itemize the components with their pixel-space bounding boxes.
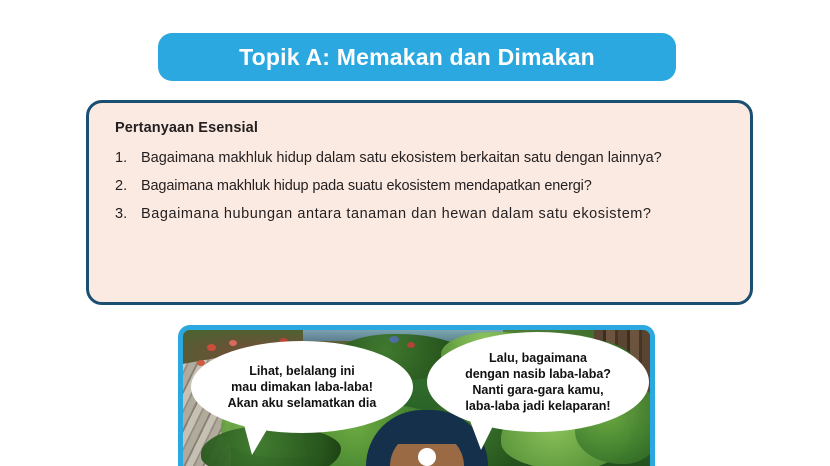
question-text: Bagaimana hubungan antara tanaman dan he… bbox=[141, 204, 724, 225]
question-number: 1. bbox=[115, 148, 141, 169]
speech-bubble-right: Lalu, bagaimana dengan nasib laba-laba? … bbox=[427, 332, 649, 432]
question-number: 2. bbox=[115, 176, 141, 197]
question-text: Bagaimana makhluk hidup dalam satu ekosi… bbox=[141, 148, 724, 169]
speech-bubble-left-text: Lihat, belalang ini mau dimakan laba-lab… bbox=[220, 363, 385, 411]
flower bbox=[407, 342, 415, 348]
comic-panel: Lihat, belalang ini mau dimakan laba-lab… bbox=[178, 325, 655, 466]
essential-questions-card: Pertanyaan Esensial 1. Bagaimana makhluk… bbox=[86, 100, 753, 305]
comic-scene-image: Lihat, belalang ini mau dimakan laba-lab… bbox=[183, 330, 650, 466]
question-text: Bagaimana makhluk hidup pada suatu ekosi… bbox=[141, 176, 724, 197]
topic-title-text: Topik A: Memakan dan Dimakan bbox=[239, 44, 595, 71]
speech-bubble-tail bbox=[469, 418, 497, 450]
question-item: 1. Bagaimana makhluk hidup dalam satu ek… bbox=[115, 148, 724, 169]
question-item: 2. Bagaimana makhluk hidup pada suatu ek… bbox=[115, 176, 724, 197]
speech-bubble-left: Lihat, belalang ini mau dimakan laba-lab… bbox=[191, 341, 413, 433]
speech-bubble-right-text: Lalu, bagaimana dengan nasib laba-laba? … bbox=[457, 350, 619, 414]
speech-bubble-tail bbox=[243, 421, 272, 455]
character-eye bbox=[418, 448, 436, 466]
topic-title-banner: Topik A: Memakan dan Dimakan bbox=[158, 33, 676, 81]
flower bbox=[389, 336, 399, 343]
essential-questions-heading: Pertanyaan Esensial bbox=[115, 120, 724, 136]
question-number: 3. bbox=[115, 204, 141, 225]
question-item: 3. Bagaimana hubungan antara tanaman dan… bbox=[115, 204, 724, 225]
flower bbox=[229, 340, 237, 346]
flower bbox=[207, 344, 216, 351]
character-fringe bbox=[384, 420, 472, 444]
essential-questions-list: 1. Bagaimana makhluk hidup dalam satu ek… bbox=[115, 148, 724, 225]
